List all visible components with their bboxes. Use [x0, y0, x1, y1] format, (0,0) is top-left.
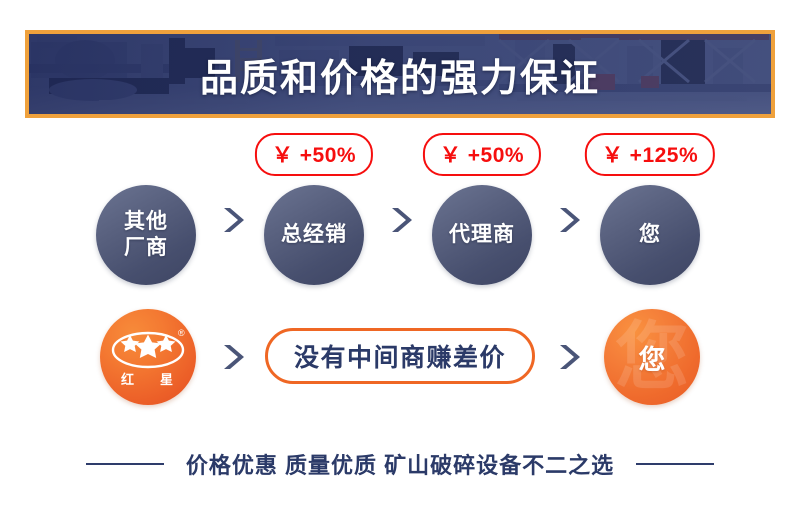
chain-node-other-manufacturer[interactable]: 其他 厂商	[96, 185, 196, 285]
chain-node-label-line-1: 其他	[124, 209, 168, 235]
banner-title: 品质和价格的强力保证	[29, 34, 771, 114]
divider-line-left	[86, 463, 164, 465]
price-markup-badge: ￥ +125%	[585, 133, 715, 176]
you-label: 您	[604, 309, 700, 405]
chain-node-label-line-1: 总经销	[281, 222, 347, 248]
footer-tagline-text: 价格优惠 质量优质 矿山破碎设备不二之选	[186, 448, 614, 480]
chain-node-you[interactable]: ￥ +125% 您	[600, 185, 700, 285]
chain-node-label-line-1: 您	[639, 222, 661, 248]
chevron-right-icon	[215, 340, 249, 374]
chevron-right-icon	[551, 203, 585, 237]
chain-node-circle: 总经销	[264, 185, 364, 285]
chevron-right-icon	[215, 203, 249, 237]
direct-sale-row: 红 星 ® 没有中间商赚差价 您 您	[0, 300, 800, 430]
chain-node-circle: 您	[600, 185, 700, 285]
footer-tagline: 价格优惠 质量优质 矿山破碎设备不二之选	[0, 448, 800, 480]
no-middleman-label: 没有中间商赚差价	[294, 338, 506, 374]
price-markup-badge: ￥ +50%	[423, 133, 541, 176]
chain-node-label-line-2: 厂商	[124, 235, 168, 261]
no-middleman-message[interactable]: 没有中间商赚差价	[265, 328, 535, 384]
chevron-right-icon	[383, 203, 417, 237]
chain-node-circle: 代理商	[432, 185, 532, 285]
brand-logo[interactable]: 红 星 ®	[100, 309, 196, 405]
divider-line-right	[636, 463, 714, 465]
header-banner: 品质和价格的强力保证	[25, 30, 775, 118]
direct-customer-circle[interactable]: 您 您	[604, 309, 700, 405]
chain-node-agent[interactable]: ￥ +50% 代理商	[432, 185, 532, 285]
chevron-right-icon	[551, 340, 585, 374]
chain-node-label-line-1: 代理商	[449, 222, 515, 248]
distribution-chain-row: 其他 厂商 ￥ +50% 总经销 ￥ +50% 代理商	[0, 140, 800, 300]
chain-node-circle: 其他 厂商	[96, 185, 196, 285]
chain-node-general-distributor[interactable]: ￥ +50% 总经销	[264, 185, 364, 285]
price-markup-badge: ￥ +50%	[255, 133, 373, 176]
infographic-page: 品质和价格的强力保证 其他 厂商 ￥ +50% 总经销	[0, 0, 800, 530]
